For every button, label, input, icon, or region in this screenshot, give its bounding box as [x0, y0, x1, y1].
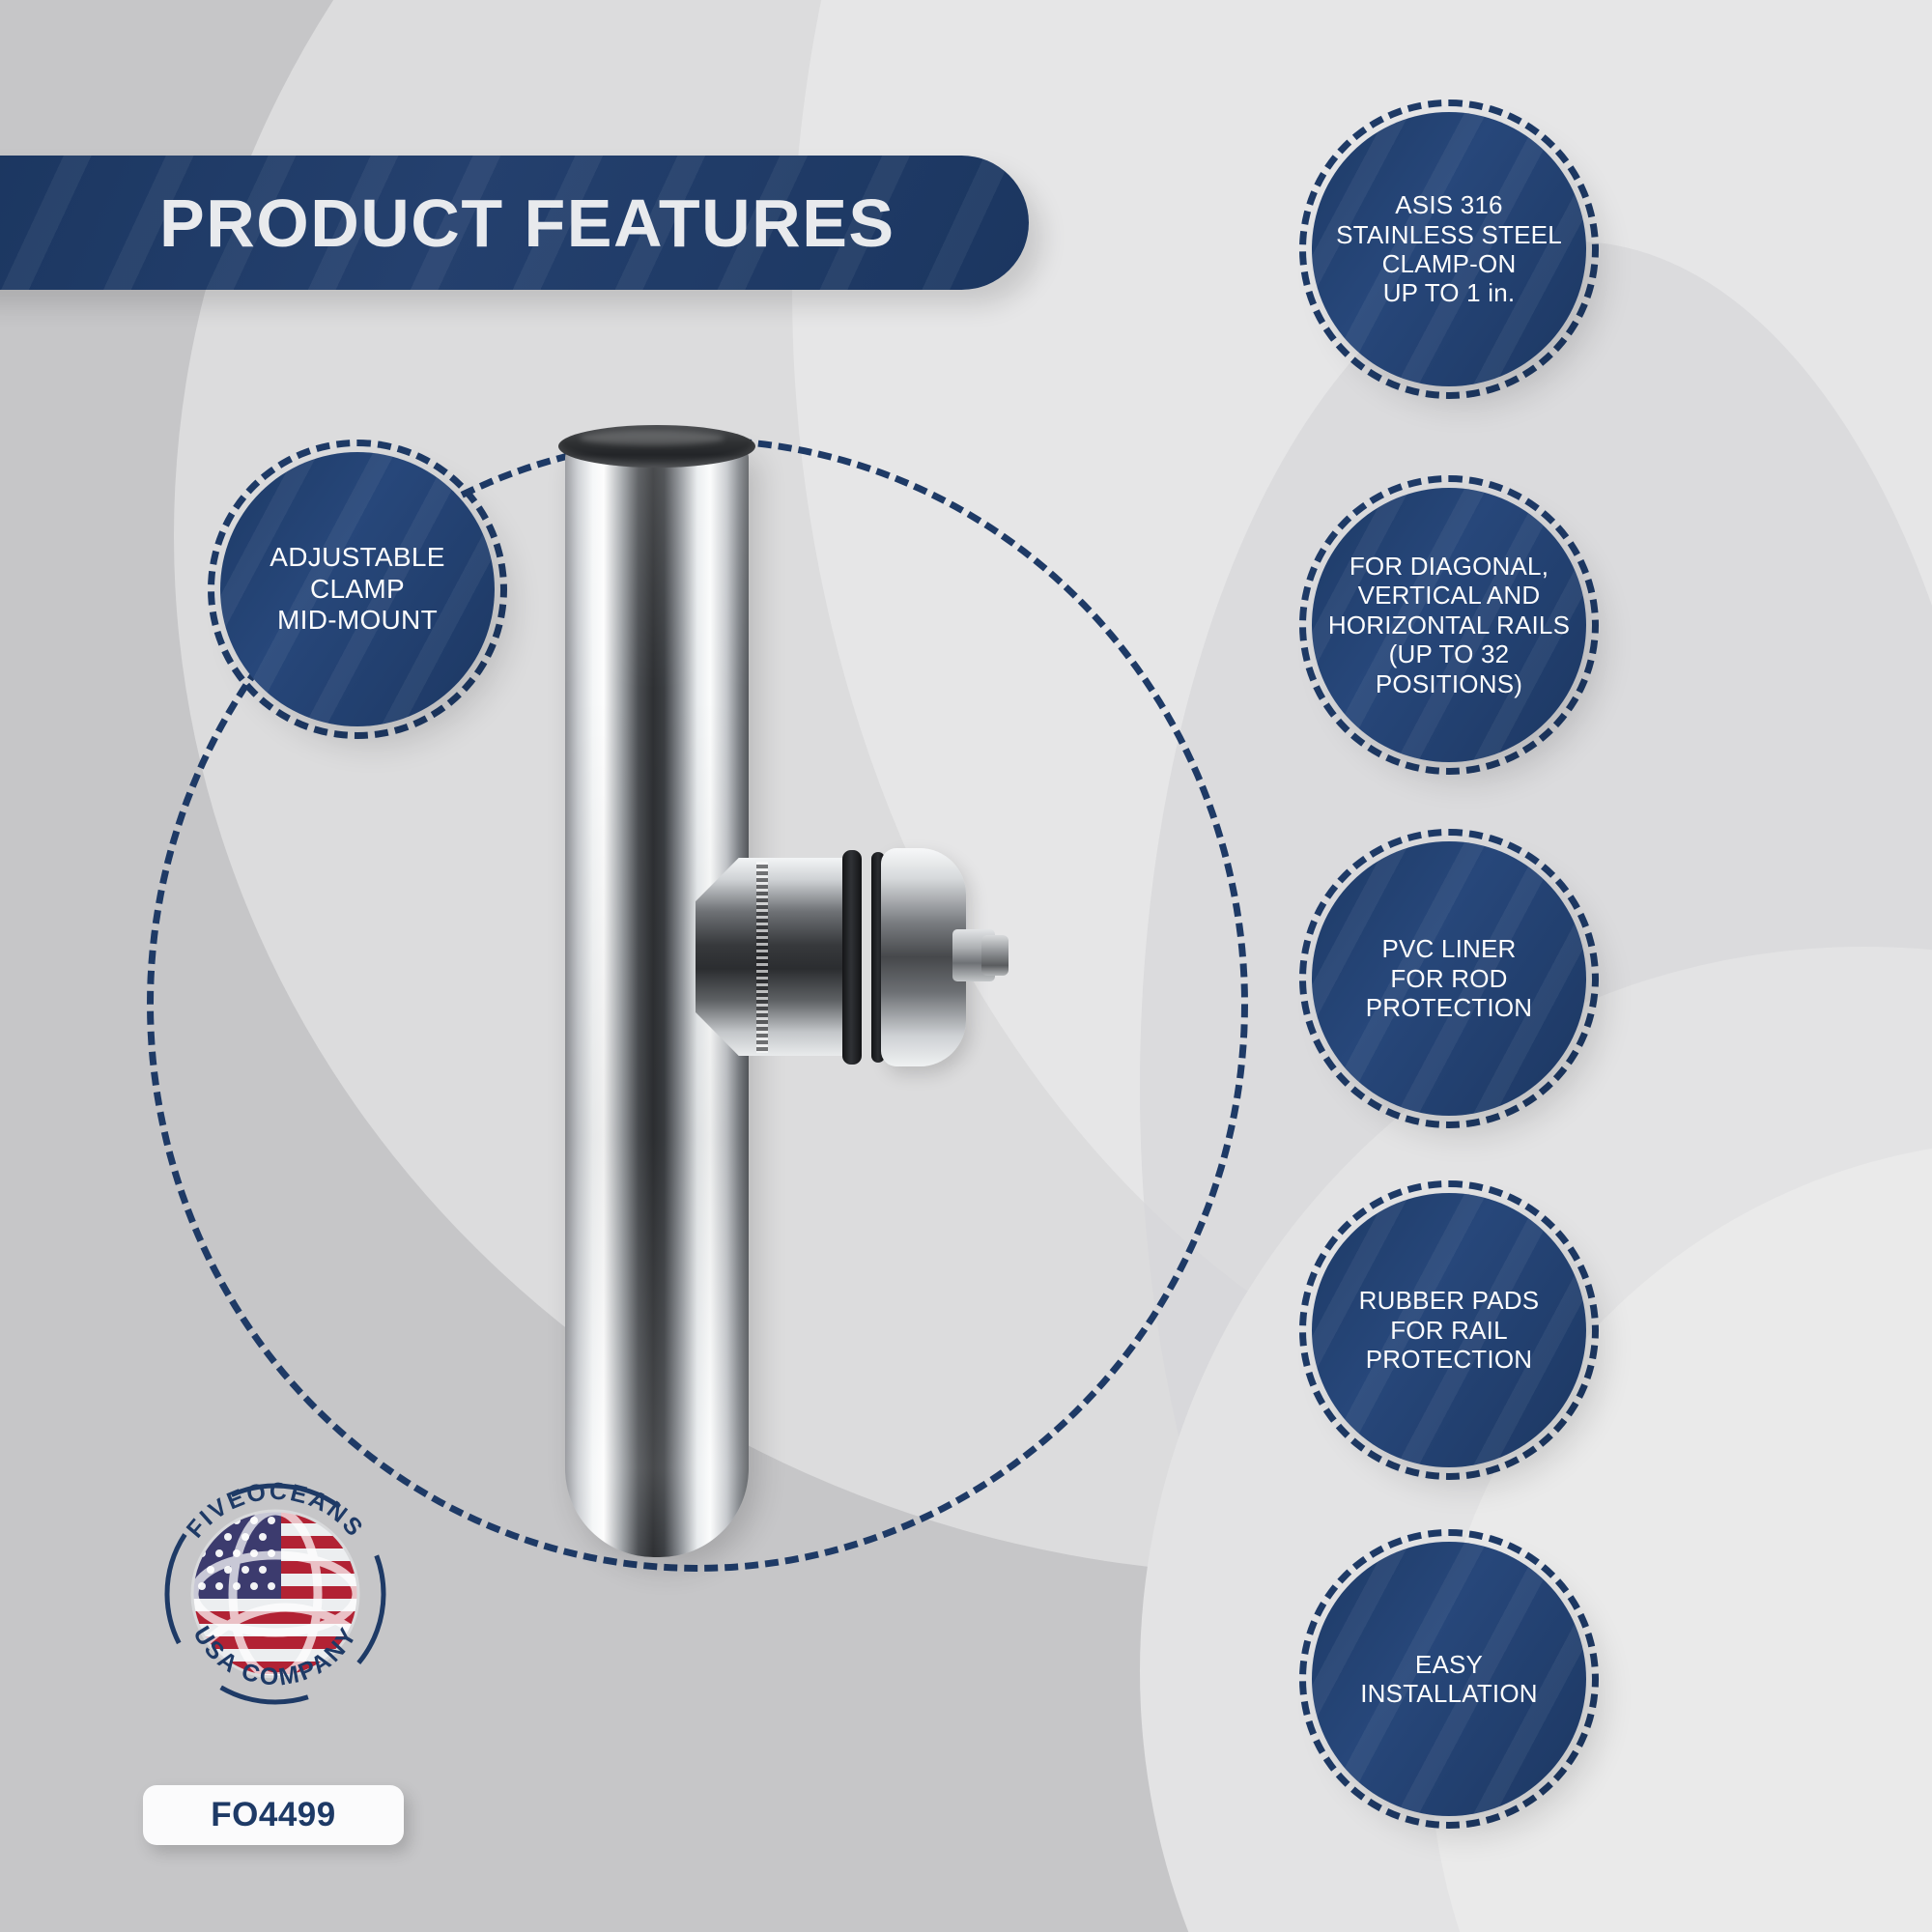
feature-line: FOR DIAGONAL, [1350, 552, 1548, 581]
clamp-rubber-gasket-outer [842, 850, 862, 1065]
feature-badge-rail-orientation[interactable]: FOR DIAGONAL, VERTICAL AND HORIZONTAL RA… [1299, 475, 1599, 775]
feature-line: FOR RAIL [1390, 1316, 1508, 1345]
feature-line: POSITIONS) [1376, 669, 1522, 698]
feature-disc: PVC LINER FOR ROD PROTECTION [1312, 841, 1586, 1116]
infographic-canvas: PRODUCT FEATURES ADJUSTABLE CLAMP MID-MO… [0, 0, 1932, 1932]
clamp-cone-body [696, 858, 862, 1056]
header-banner: PRODUCT FEATURES [0, 156, 1029, 290]
feature-badge-pvc-liner[interactable]: PVC LINER FOR ROD PROTECTION [1299, 829, 1599, 1128]
feature-line: MID-MOUNT [277, 605, 438, 635]
product-cap-highlight [580, 431, 724, 445]
feature-label: RUBBER PADS FOR RAIL PROTECTION [1350, 1286, 1549, 1374]
feature-line: CLAMP [310, 574, 405, 604]
feature-line: VERTICAL AND [1358, 581, 1541, 610]
feature-label: PVC LINER FOR ROD PROTECTION [1356, 934, 1542, 1022]
usa-company-badge: FIVEOCEANS USA COMPANY [150, 1466, 401, 1718]
feature-line: EASY [1415, 1650, 1483, 1679]
feature-disc: RUBBER PADS FOR RAIL PROTECTION [1312, 1193, 1586, 1467]
feature-line: HORIZONTAL RAILS [1328, 611, 1570, 639]
feature-line: INSTALLATION [1360, 1679, 1537, 1708]
feature-line: PROTECTION [1366, 1345, 1532, 1374]
feature-label: FOR DIAGONAL, VERTICAL AND HORIZONTAL RA… [1319, 552, 1579, 698]
feature-disc: ASIS 316 STAINLESS STEEL CLAMP-ON UP TO … [1312, 112, 1586, 386]
feature-line: CLAMP-ON [1382, 249, 1517, 278]
feature-line: FOR ROD [1390, 964, 1507, 993]
feature-label: ASIS 316 STAINLESS STEEL CLAMP-ON UP TO … [1326, 190, 1572, 308]
feature-badge-adjustable-clamp[interactable]: ADJUSTABLE CLAMP MID-MOUNT [208, 440, 507, 739]
clamp-serration [756, 862, 768, 1053]
product-image-rod-holder [541, 415, 947, 1575]
feature-disc: EASY INSTALLATION [1312, 1542, 1586, 1816]
sku-badge: FO4499 [143, 1785, 404, 1845]
feature-disc: ADJUSTABLE CLAMP MID-MOUNT [220, 452, 495, 726]
clamp-bolt-head [981, 935, 1009, 976]
feature-line: ADJUSTABLE [270, 542, 444, 572]
feature-badge-material[interactable]: ASIS 316 STAINLESS STEEL CLAMP-ON UP TO … [1299, 99, 1599, 399]
page-title: PRODUCT FEATURES [159, 189, 895, 257]
feature-line: PVC LINER [1381, 934, 1516, 963]
feature-line: (UP TO 32 [1389, 639, 1510, 668]
sku-code: FO4499 [211, 1796, 335, 1834]
feature-badge-easy-installation[interactable]: EASY INSTALLATION [1299, 1529, 1599, 1829]
product-clamp-assembly [696, 840, 985, 1072]
feature-line: RUBBER PADS [1359, 1286, 1540, 1315]
feature-line: STAINLESS STEEL [1336, 220, 1562, 249]
feature-disc: FOR DIAGONAL, VERTICAL AND HORIZONTAL RA… [1312, 488, 1586, 762]
feature-line: UP TO 1 in. [1383, 278, 1516, 307]
feature-line: PROTECTION [1366, 993, 1532, 1022]
feature-label: ADJUSTABLE CLAMP MID-MOUNT [260, 542, 454, 637]
feature-badge-rubber-pads[interactable]: RUBBER PADS FOR RAIL PROTECTION [1299, 1180, 1599, 1480]
flag-globe-icon: FIVEOCEANS USA COMPANY [150, 1466, 401, 1718]
feature-label: EASY INSTALLATION [1350, 1650, 1547, 1709]
feature-line: ASIS 316 [1395, 190, 1502, 219]
